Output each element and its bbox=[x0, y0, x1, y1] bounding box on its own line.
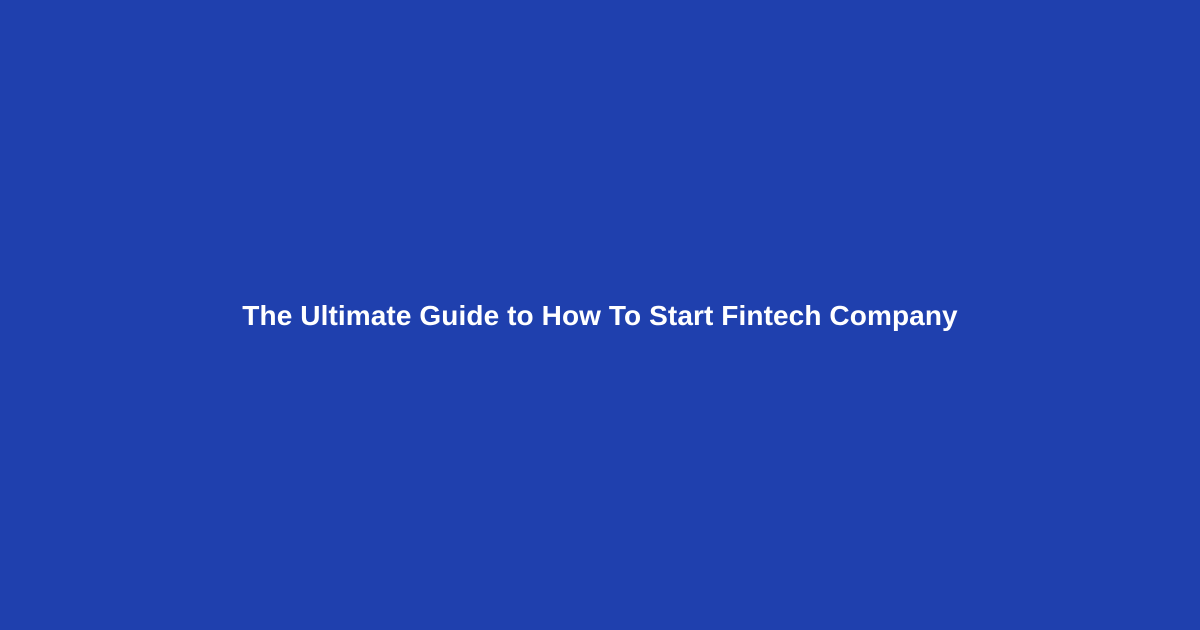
page-title: The Ultimate Guide to How To Start Finte… bbox=[242, 298, 957, 333]
share-card: The Ultimate Guide to How To Start Finte… bbox=[0, 0, 1200, 630]
